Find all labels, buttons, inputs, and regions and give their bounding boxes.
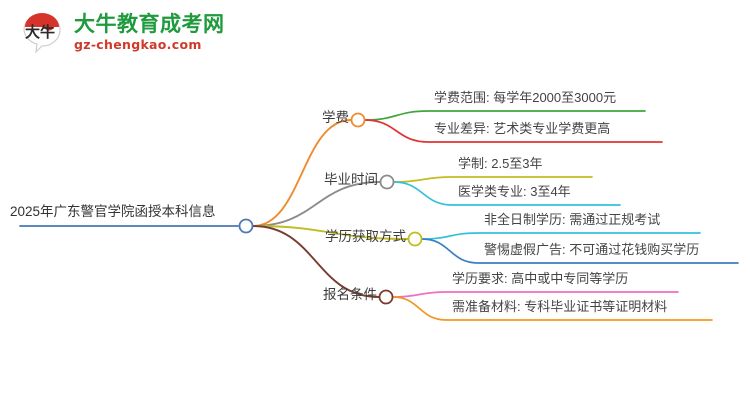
branch-node-label-4[interactable]: 报名条件 xyxy=(323,288,377,303)
mindmap-edge xyxy=(422,233,700,239)
branch-node-label-2[interactable]: 毕业时间 xyxy=(324,173,378,188)
branch-node-label-1[interactable]: 学费 xyxy=(322,111,349,126)
leaf-node-label-2-1[interactable]: 学制: 2.5至3年 xyxy=(458,157,543,171)
leaf-node-label-3-1[interactable]: 非全日制学历: 需通过正规考试 xyxy=(484,213,660,227)
mindmap-node-dot[interactable] xyxy=(381,176,394,189)
leaf-node-label-4-2[interactable]: 需准备材料: 专科毕业证书等证明材料 xyxy=(452,300,667,314)
root-node-label[interactable]: 2025年广东警官学院函授本科信息 xyxy=(10,205,216,220)
mindmap-node-dot[interactable] xyxy=(240,220,253,233)
mindmap-nodes xyxy=(240,114,422,304)
mindmap-edge xyxy=(365,111,645,120)
mindmap-page: 大牛 大牛教育成考网 gz-chengkao.com 2025年广东警官学院函授… xyxy=(0,0,750,410)
mindmap-node-dot[interactable] xyxy=(352,114,365,127)
leaf-node-label-4-1[interactable]: 学历要求: 高中或中专同等学历 xyxy=(452,272,628,286)
leaf-node-label-2-2[interactable]: 医学类专业: 3至4年 xyxy=(458,185,571,199)
mindmap-node-dot[interactable] xyxy=(380,291,393,304)
leaf-node-label-3-2[interactable]: 警惕虚假广告: 不可通过花钱购买学历 xyxy=(484,243,699,257)
leaf-node-label-1-2[interactable]: 专业差异: 艺术类专业学费更高 xyxy=(434,122,610,136)
mindmap-node-dot[interactable] xyxy=(409,233,422,246)
branch-node-label-3[interactable]: 学历获取方式 xyxy=(325,230,406,245)
mindmap-edge xyxy=(393,292,678,297)
mindmap-edge xyxy=(394,177,592,182)
leaf-node-label-1-1[interactable]: 学费范围: 每学年2000至3000元 xyxy=(434,91,616,105)
